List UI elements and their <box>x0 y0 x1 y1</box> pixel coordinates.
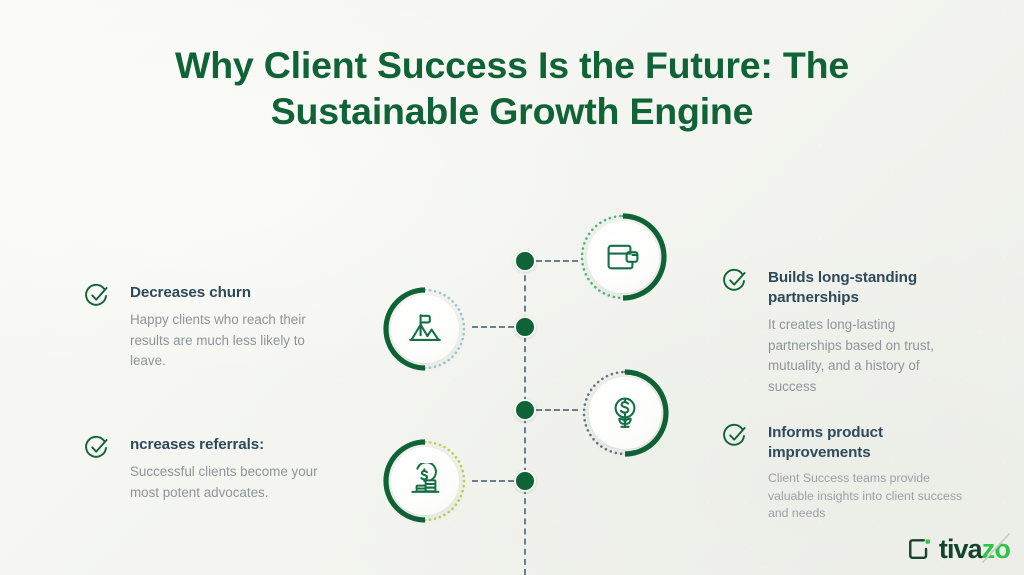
timeline-branch-2 <box>472 326 514 328</box>
bullet-heading: Informs product improvements <box>768 423 977 463</box>
bullet-decreases-churn: Decreases churn Happy clients who reach … <box>84 283 319 372</box>
bullet-informs-product-improvements: Informs product improvements Client Succ… <box>722 423 977 523</box>
logo-text-dark: tiva <box>939 534 982 564</box>
timeline-branch-3 <box>536 409 578 411</box>
bullet-increases-referrals: ncreases referrals: Successful clients b… <box>84 435 336 503</box>
wallet-badge <box>578 212 668 302</box>
bullet-body: It creates long-lasting partnerships bas… <box>768 315 965 397</box>
plant-badge <box>580 368 670 458</box>
bullet-body: Client Success teams provide valuable in… <box>768 470 977 523</box>
check-circle-icon <box>722 423 748 449</box>
bullet-builds-partnerships: Builds long-standing partnerships It cre… <box>722 268 965 397</box>
tivazo-bracket-icon <box>907 537 932 562</box>
money-plant-icon <box>607 395 643 431</box>
summit-badge <box>382 286 468 372</box>
timeline-branch-4 <box>472 480 514 482</box>
timeline-node-1 <box>514 250 536 272</box>
coins-badge <box>382 438 468 524</box>
mountain-flag-icon <box>407 311 443 347</box>
bullet-heading: ncreases referrals: <box>130 435 336 455</box>
check-circle-icon <box>722 268 748 294</box>
check-circle-icon <box>84 283 110 309</box>
page-title: Why Client Success Is the Future: The Su… <box>170 42 854 134</box>
logo-wordmark: tivazo <box>939 536 1010 563</box>
wallet-icon <box>605 239 641 275</box>
money-coins-icon <box>407 463 443 499</box>
bullet-heading: Decreases churn <box>130 283 319 303</box>
timeline-node-2 <box>514 316 536 338</box>
bullet-body: Happy clients who reach their results ar… <box>130 310 319 372</box>
timeline-node-3 <box>514 399 536 421</box>
infographic-canvas: Why Client Success Is the Future: The Su… <box>0 0 1024 575</box>
bullet-body: Successful clients become your most pote… <box>130 462 336 503</box>
timeline-branch-1 <box>536 260 578 262</box>
timeline-node-4 <box>514 470 536 492</box>
bullet-heading: Builds long-standing partnerships <box>768 268 965 308</box>
check-circle-icon <box>84 435 110 461</box>
tivazo-logo[interactable]: tivazo <box>907 536 1010 563</box>
logo-text-accent: zo <box>982 534 1010 564</box>
